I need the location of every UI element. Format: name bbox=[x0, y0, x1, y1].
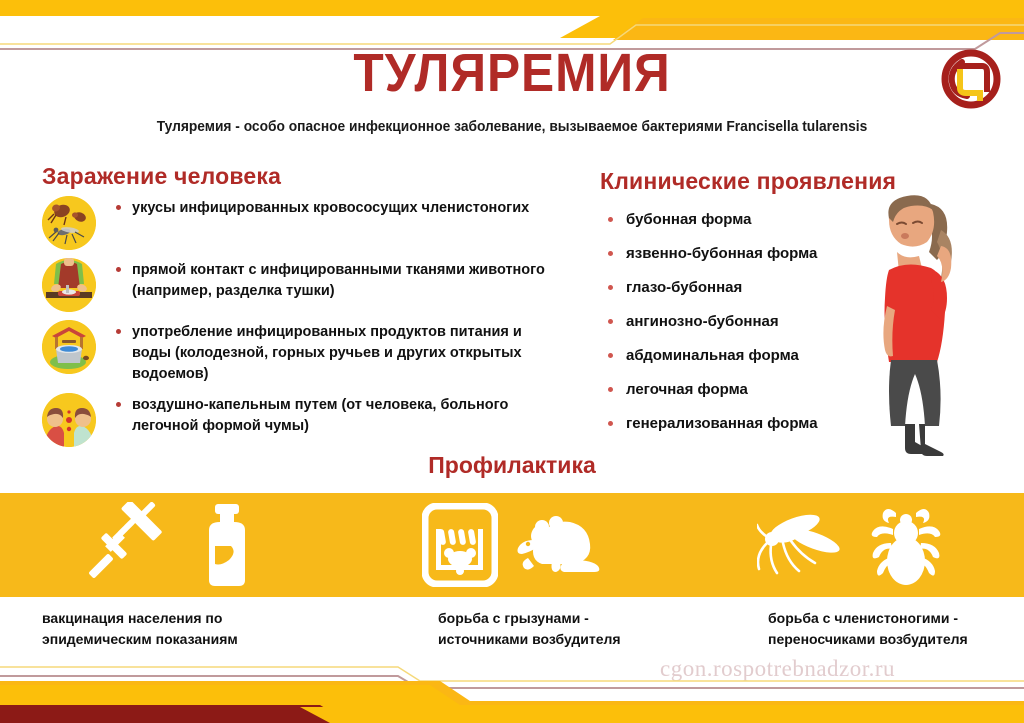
prophylaxis-cell-vaccination bbox=[0, 493, 341, 597]
rat-icon bbox=[512, 514, 602, 576]
insects-icon bbox=[42, 196, 96, 250]
list-item: глазо-бубонная bbox=[606, 278, 876, 297]
page-title: ТУЛЯРЕМИЯ bbox=[41, 44, 983, 102]
prophylaxis-icon-row bbox=[0, 493, 1024, 597]
butcher-icon bbox=[42, 258, 96, 312]
list-item: бубонная форма bbox=[606, 210, 876, 229]
poster-root: ТУЛЯРЕМИЯ Туляремия - особо опасное инфе… bbox=[0, 0, 1024, 723]
prophylaxis-caption-vaccination: вакцинация населения поэпидемическим пок… bbox=[42, 608, 342, 650]
page-subtitle: Туляремия - особо опасное инфекционное з… bbox=[26, 119, 999, 135]
airborne-people-icon bbox=[42, 393, 96, 447]
list-item: ангинозно-бубонная bbox=[606, 312, 876, 331]
clinical-list: бубонная форма язвенно-бубонная форма гл… bbox=[606, 210, 876, 448]
mouse-trap-icon bbox=[422, 503, 498, 587]
section-heading-infection: Заражение человека bbox=[42, 163, 281, 190]
list-item: язвенно-бубонная форма bbox=[606, 244, 876, 263]
top-accent-bar bbox=[0, 0, 1024, 16]
sick-woman-illustration bbox=[845, 186, 965, 466]
syringe-icon bbox=[85, 502, 181, 588]
list-item-label: воздушно-капельным путем (от человека, б… bbox=[112, 393, 562, 437]
prophylaxis-cell-arthropods bbox=[683, 493, 1024, 597]
water-well-icon bbox=[42, 320, 96, 374]
list-item: генерализованная форма bbox=[606, 414, 876, 433]
mosquito-icon bbox=[757, 503, 849, 587]
tick-icon bbox=[863, 503, 949, 587]
list-item-label: укусы инфицированных кровососущих членис… bbox=[112, 196, 562, 219]
list-item-label: прямой контакт с инфицированными тканями… bbox=[112, 258, 562, 302]
vaccine-bottle-icon bbox=[195, 502, 257, 588]
infection-list: укусы инфицированных кровососущих членис… bbox=[42, 196, 562, 455]
prophylaxis-cell-rodents bbox=[341, 493, 682, 597]
site-watermark: cgon.rospotrebnadzor.ru bbox=[660, 656, 895, 682]
list-item: абдоминальная форма bbox=[606, 346, 876, 365]
list-item-label: употребление инфицированных продуктов пи… bbox=[112, 320, 562, 385]
list-item: употребление инфицированных продуктов пи… bbox=[42, 320, 562, 385]
prophylaxis-caption-rodents: борьба с грызунами -источниками возбудит… bbox=[438, 608, 738, 650]
list-item: воздушно-капельным путем (от человека, б… bbox=[42, 393, 562, 447]
list-item: легочная форма bbox=[606, 380, 876, 399]
section-heading-prophylaxis: Профилактика bbox=[0, 452, 1024, 479]
list-item: прямой контакт с инфицированными тканями… bbox=[42, 258, 562, 312]
list-item: укусы инфицированных кровососущих членис… bbox=[42, 196, 562, 250]
prophylaxis-caption-arthropods: борьба с членистоногими -переносчиками в… bbox=[768, 608, 1024, 650]
